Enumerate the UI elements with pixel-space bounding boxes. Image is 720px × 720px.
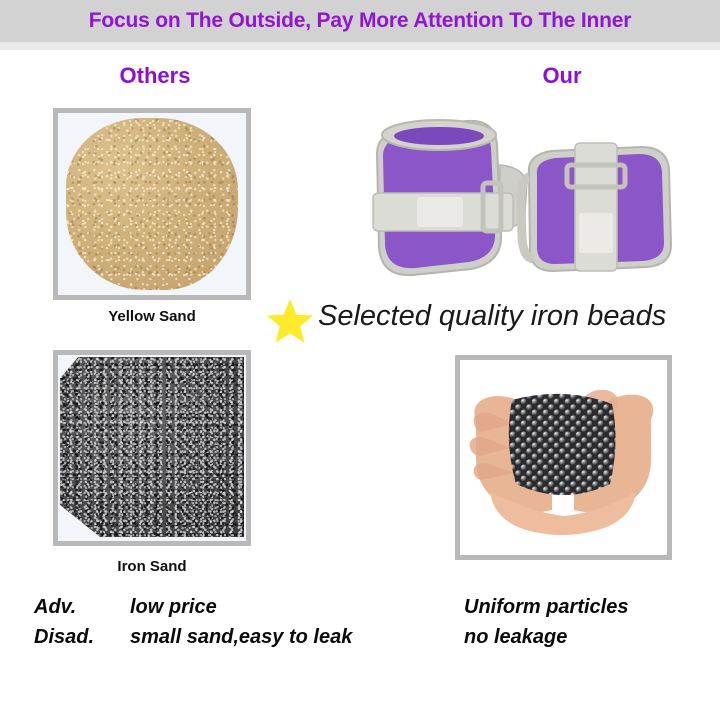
adv-label: Adv. [34,596,130,619]
disad-text: small sand,easy to leak [130,626,352,649]
our-benefit-2: no leakage [464,626,628,649]
ankle-weight-upright [373,120,527,275]
iron-beads-photo [460,360,667,555]
disad-label: Disad. [34,626,130,649]
comparison-text-our: Uniform particles no leakage [464,596,628,656]
tagline-text: Selected quality iron beads [318,300,666,333]
banner-underline [0,42,720,50]
header-banner: Focus on The Outside, Pay More Attention… [0,0,720,42]
yellow-sand-photo [58,113,246,295]
iron-sand-grain-texture [60,357,244,537]
our-benefit-1: Uniform particles [464,596,628,619]
yellow-sand-grain-texture [66,118,239,289]
adv-text: low price [130,596,217,619]
star-icon [266,298,314,344]
column-heading-others: Others [95,63,215,89]
photo-frame-iron-beads [455,355,672,560]
photo-frame-yellow-sand [53,108,251,300]
comparison-text-others: Adv. low price Disad. small sand,easy to… [34,596,352,656]
yellow-sand-pile [66,118,239,289]
infographic-page: Focus on The Outside, Pay More Attention… [0,0,720,720]
comparison-row-disad: Disad. small sand,easy to leak [34,626,352,649]
iron-bead-pile [509,394,616,495]
column-heading-our: Our [502,63,622,89]
page-title: Focus on The Outside, Pay More Attention… [89,9,631,33]
iron-sand-mass [60,357,244,537]
caption-yellow-sand: Yellow Sand [53,308,251,325]
caption-iron-sand: Iron Sand [53,558,251,575]
photo-frame-iron-sand [53,350,251,546]
iron-sand-photo [58,355,246,541]
product-photo-ankle-weights [355,105,685,295]
ankle-weight-flat [521,143,671,271]
comparison-row-adv: Adv. low price [34,596,352,619]
